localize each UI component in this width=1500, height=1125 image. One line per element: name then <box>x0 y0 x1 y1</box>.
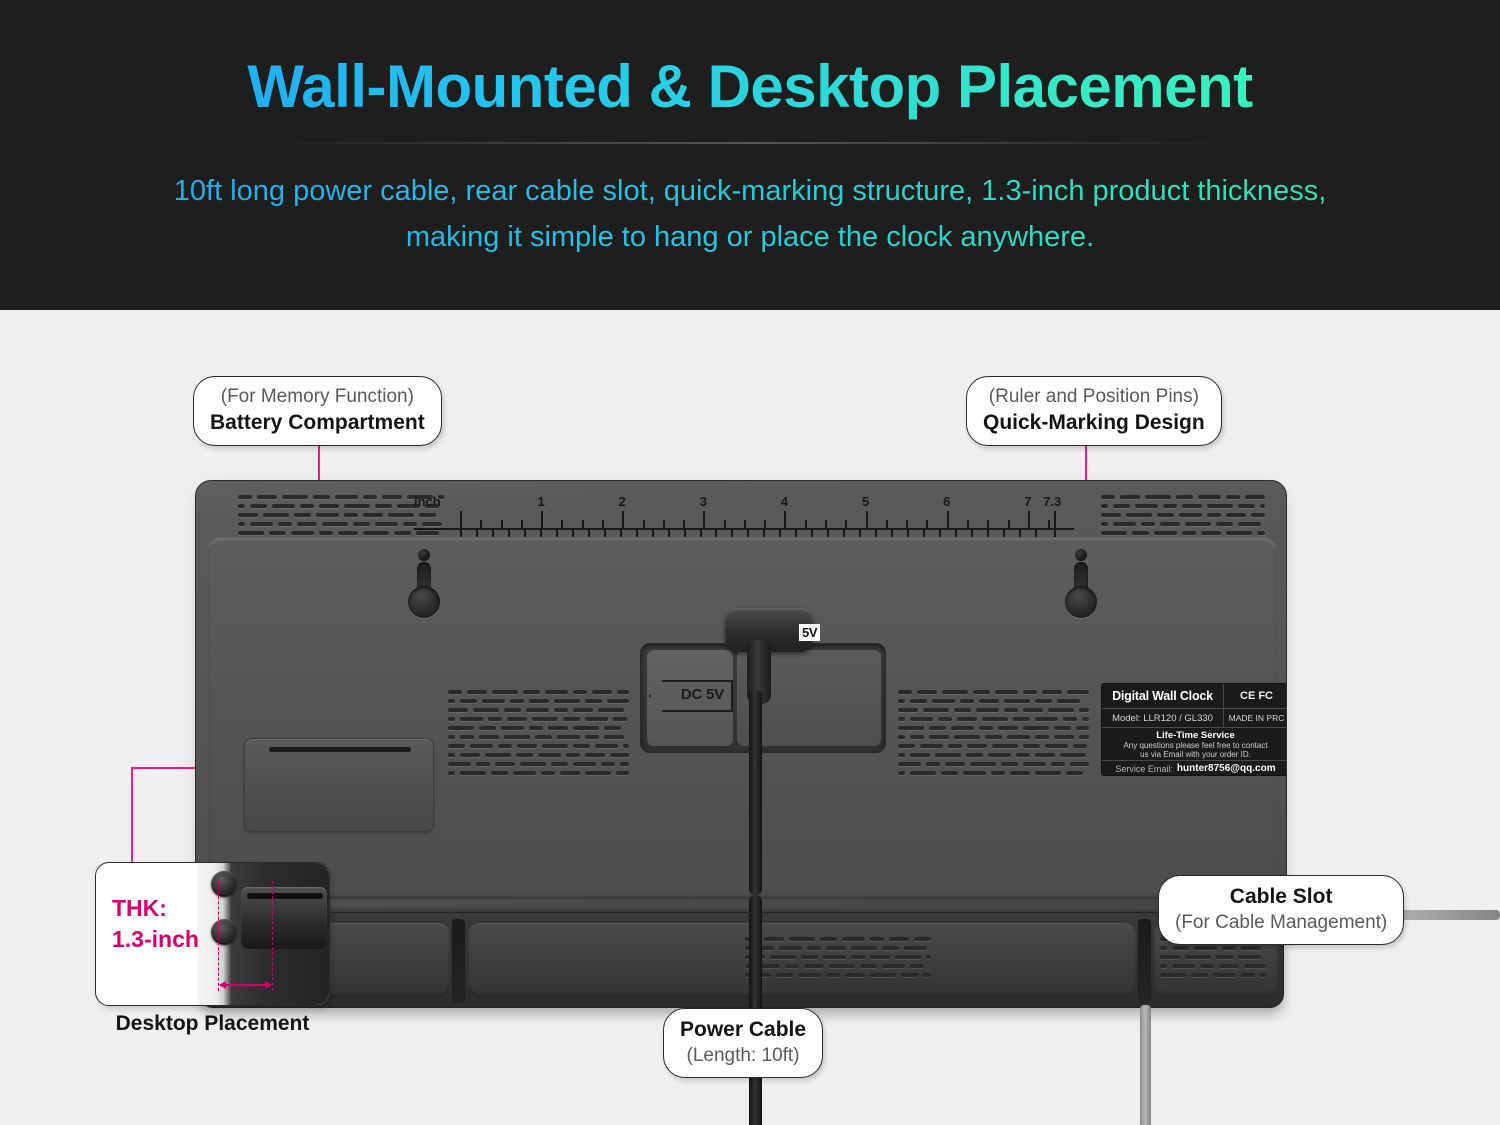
cable-slot-base-bar <box>199 912 1284 1008</box>
service-line-2: us via Email with your order ID. <box>1140 750 1251 760</box>
power-cable-vertical <box>749 690 762 895</box>
callout-quick-marking-sub: (Ruler and Position Pins) <box>983 384 1205 409</box>
ruler-tick-inch <box>480 520 482 528</box>
ruler-label-inch: 4 <box>781 494 788 509</box>
thickness-dim-line-right <box>272 881 273 991</box>
ruler-tick-inch <box>683 520 685 528</box>
ruler-tick-inch <box>643 520 645 528</box>
title-divider <box>270 142 1230 144</box>
service-email-key: Service Email: <box>1115 764 1173 774</box>
dc-5v-arrow-label: DC 5V <box>649 680 729 708</box>
keyhole-circle-right <box>1065 586 1097 618</box>
ruler-tick-inch <box>947 511 949 528</box>
thickness-slot-line <box>247 893 323 899</box>
subtitle-line-1: 10ft long power cable, rear cable slot, … <box>0 168 1500 214</box>
ruler-tick-inch <box>825 520 827 528</box>
ruler-tick-inch <box>906 520 908 528</box>
page-title: Wall-Mounted & Desktop Placement <box>0 52 1500 121</box>
battery-door-grip <box>269 747 411 752</box>
ruler-tick-inch <box>987 520 989 528</box>
ruler-tick-inch <box>926 520 928 528</box>
ruler-tick-inch <box>866 511 868 528</box>
callout-quick-marking-main: Quick-Marking Design <box>983 409 1205 436</box>
service-line-1: Any questions please feel free to contac… <box>1123 741 1267 751</box>
thickness-dim-line-left <box>218 881 219 991</box>
infographic-page: Wall-Mounted & Desktop Placement 10ft lo… <box>0 0 1500 1125</box>
ruler-unit-inch: inch <box>414 494 441 509</box>
cable-slot-notch-left[interactable] <box>452 919 465 1003</box>
ruler-tick-inch <box>521 520 523 528</box>
callout-battery-sub: (For Memory Function) <box>210 384 425 409</box>
device-rear-shell: inch cm 12345678910111213141516171818.61… <box>195 480 1287 916</box>
callout-power-cable-sub: (Length: 10ft) <box>680 1043 806 1068</box>
callout-power-cable-main: Power Cable <box>680 1016 806 1043</box>
ruler-tick-inch <box>1008 520 1010 528</box>
ruler-tick-inch <box>561 520 563 528</box>
product-origin: MADE IN PRC <box>1223 709 1287 727</box>
ruler-tick-inch <box>541 511 543 528</box>
service-email-value: hunter8756@qq.com <box>1177 763 1276 774</box>
product-name: Digital Wall Clock <box>1102 684 1223 708</box>
ruler-tick-inch <box>460 511 462 528</box>
ruler-label-inch: 7.3 <box>1043 494 1061 509</box>
header-banner: Wall-Mounted & Desktop Placement 10ft lo… <box>0 0 1500 310</box>
ruler-tick-inch <box>744 520 746 528</box>
service-title: Life-Time Service <box>1156 730 1235 741</box>
keyhole-circle-left <box>408 586 440 618</box>
ruler-tick-inch <box>764 520 766 528</box>
ruler-label-inch: 7 <box>1024 494 1031 509</box>
position-pin-right-icon <box>1075 549 1087 561</box>
thickness-label: THK: 1.3-inch <box>112 893 199 955</box>
ruler-tick-inch <box>501 520 503 528</box>
product-spec-label: Digital Wall Clock CE FC Model: LLR120 /… <box>1101 683 1287 776</box>
callout-cable-slot[interactable]: Cable Slot (For Cable Management) <box>1158 875 1404 945</box>
ruler-tick-inch <box>1048 520 1050 528</box>
subtitle-line-2: making it simple to hang or place the cl… <box>0 214 1500 260</box>
ruler-label-inch: 3 <box>700 494 707 509</box>
thickness-label-line-2: 1.3-inch <box>112 926 199 952</box>
side-button-bottom-icon <box>211 919 237 945</box>
managed-cable-vertical <box>1140 1005 1151 1125</box>
vent-grille-mid-right <box>898 690 1093 782</box>
keyhole-mount-left <box>404 556 444 618</box>
cable-slot-notch-right[interactable] <box>1138 919 1151 1003</box>
vent-grille-mid-left <box>448 690 633 782</box>
ruler-tick-inch <box>622 511 624 528</box>
ruler-tick-inch <box>805 520 807 528</box>
callout-battery-compartment[interactable]: (For Memory Function) Battery Compartmen… <box>193 376 442 446</box>
ruler-label-inch: 5 <box>862 494 869 509</box>
ruler-label-inch: 1 <box>537 494 544 509</box>
device-inner-panel: DC 5V Digital Wall Clock CE FC Model: LL… <box>208 537 1276 899</box>
ruler-tick-inch <box>582 520 584 528</box>
ruler-tick-inch <box>886 520 888 528</box>
plug-5v-marking: 5V <box>799 624 820 641</box>
leader-thickness-h <box>131 767 203 769</box>
ruler-label-inch: 2 <box>619 494 626 509</box>
thickness-inset-card: THK: 1.3-inch <box>95 862 330 1006</box>
vent-grille-base <box>745 937 935 983</box>
callout-battery-main: Battery Compartment <box>210 409 425 436</box>
thickness-dim-arrow <box>220 984 271 986</box>
callout-cable-slot-main: Cable Slot <box>1175 883 1387 910</box>
ruler-label-inch: 6 <box>943 494 950 509</box>
callout-power-cable[interactable]: Power Cable (Length: 10ft) <box>663 1008 823 1078</box>
label-row-service: Life-Time Service Any questions please f… <box>1102 728 1287 761</box>
ruler-tick-inch <box>602 520 604 528</box>
ruler-tick-inch-end <box>1054 511 1056 528</box>
desktop-placement-caption: Desktop Placement <box>95 1012 330 1036</box>
battery-compartment-door[interactable] <box>244 738 434 832</box>
ruler-tick-inch <box>845 520 847 528</box>
ruler-axis <box>414 528 1074 530</box>
position-pin-left-icon <box>418 549 430 561</box>
page-subtitle: 10ft long power cable, rear cable slot, … <box>0 168 1500 260</box>
label-row-email: Service Email: hunter8756@qq.com <box>1102 761 1287 776</box>
label-row-model: Model: LLR120 / GL330 MADE IN PRC <box>1102 709 1287 728</box>
callout-cable-slot-sub: (For Cable Management) <box>1175 910 1387 935</box>
ruler-tick-inch <box>724 520 726 528</box>
leader-thickness-v <box>131 767 133 862</box>
keyhole-mount-right <box>1061 556 1101 618</box>
certification-marks-icon: CE FC <box>1223 684 1287 708</box>
ruler-tick-inch <box>663 520 665 528</box>
label-row-name: Digital Wall Clock CE FC <box>1102 684 1287 709</box>
product-model: Model: LLR120 / GL330 <box>1102 709 1223 727</box>
side-button-top-icon <box>211 871 237 897</box>
callout-quick-marking[interactable]: (Ruler and Position Pins) Quick-Marking … <box>966 376 1222 446</box>
ruler-tick-inch <box>1028 511 1030 528</box>
thickness-label-line-1: THK: <box>112 895 167 921</box>
ruler-tick-inch <box>967 520 969 528</box>
ruler-tick-inch <box>784 511 786 528</box>
ruler-tick-inch <box>703 511 705 528</box>
